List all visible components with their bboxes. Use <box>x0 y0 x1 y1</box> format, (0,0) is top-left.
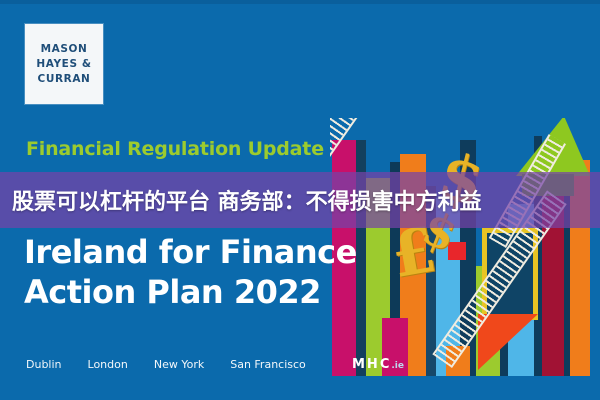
top-edge-divider <box>0 0 600 4</box>
office-item: London <box>88 358 128 371</box>
office-list: Dublin London New York San Francisco <box>26 358 306 371</box>
mhc-brand-text: MHC <box>352 357 391 372</box>
poster-root: $ £ $ MASON HAYES & CURRAN Financial Reg… <box>0 0 600 400</box>
mhc-brand-suffix: .ie <box>391 361 404 371</box>
office-item: Dublin <box>26 358 62 371</box>
overlay-headline-text: 股票可以杠杆的平台 商务部：不得损害中方利益 <box>12 184 482 216</box>
mason-hayes-curran-logo: MASON HAYES & CURRAN <box>25 24 103 104</box>
growth-bar-chart-illustration: $ £ $ <box>330 118 592 376</box>
logo-line-2: HAYES & <box>36 57 91 72</box>
office-item: New York <box>154 358 204 371</box>
headline-overlay-band: 股票可以杠杆的平台 商务部：不得损害中方利益 <box>0 172 600 228</box>
headline-line-2: Action Plan 2022 <box>24 272 324 312</box>
page-title: Ireland for Finance Action Plan 2022 <box>24 232 324 312</box>
triangle-down-accent <box>478 314 538 370</box>
headline-line-1: Ireland for Finance <box>24 232 324 272</box>
office-item: San Francisco <box>230 358 306 371</box>
logo-line-3: CURRAN <box>38 72 91 87</box>
logo-line-1: MASON <box>41 42 88 57</box>
kicker-text: Financial Regulation Update <box>26 138 324 160</box>
mhc-brand-mark: MHC.ie <box>352 357 404 372</box>
